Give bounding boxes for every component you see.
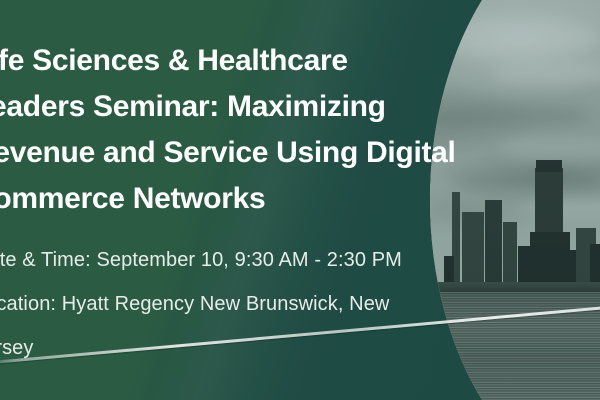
event-title: Life Sciences & Healthcare Leaders Semin… bbox=[0, 38, 442, 222]
event-location-line-2: Jersey bbox=[0, 326, 444, 370]
event-details: Date & Time: September 10, 9:30 AM - 2:3… bbox=[0, 238, 444, 370]
event-location-line-1: Location: Hyatt Regency New Brunswick, N… bbox=[0, 282, 444, 326]
event-datetime: Date & Time: September 10, 9:30 AM - 2:3… bbox=[0, 238, 444, 282]
text-layer: Life Sciences & Healthcare Leaders Semin… bbox=[0, 0, 600, 400]
title-line: Commerce Networks bbox=[0, 176, 442, 222]
title-line: Revenue and Service Using Digital bbox=[0, 130, 442, 176]
title-line: Life Sciences & Healthcare bbox=[0, 38, 442, 84]
title-line: Leaders Seminar: Maximizing bbox=[0, 84, 442, 130]
event-promo-banner: Life Sciences & Healthcare Leaders Semin… bbox=[0, 0, 600, 400]
